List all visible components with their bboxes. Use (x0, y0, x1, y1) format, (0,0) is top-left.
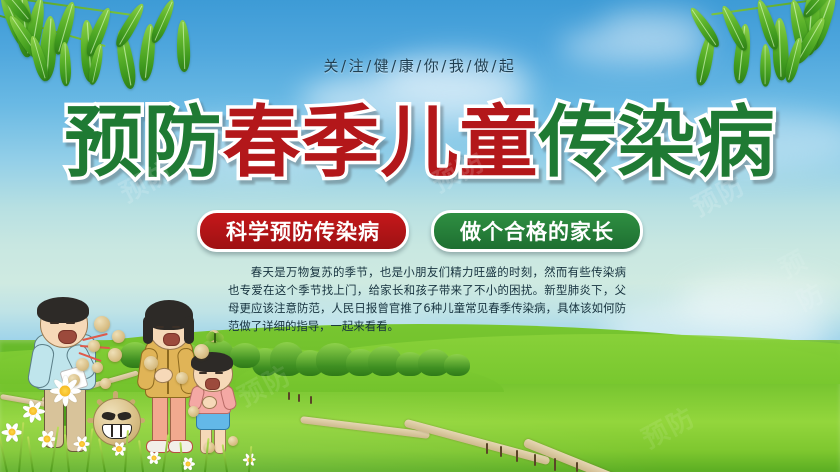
mother-mouth (163, 333, 180, 346)
virus-particle (112, 330, 125, 343)
virus-teeth-line (120, 424, 122, 437)
fence-post (534, 454, 536, 466)
daisy-core (79, 441, 85, 447)
evil-virus-character (93, 398, 139, 444)
virus-particle (94, 316, 110, 332)
daisy-core (60, 386, 71, 397)
tree (444, 354, 470, 376)
branch (0, 12, 106, 47)
virus-particle (144, 356, 158, 370)
fence-post (576, 462, 578, 472)
leaf (112, 1, 147, 50)
mother-hair-side (184, 316, 194, 344)
daisy-core (9, 429, 16, 436)
child-mouth (205, 378, 220, 390)
virus-particle (176, 372, 188, 384)
virus-particle (92, 362, 103, 373)
fence-post (554, 458, 556, 471)
child-eye (199, 372, 207, 374)
leaf (800, 0, 822, 56)
child-hand (202, 396, 217, 409)
cloud-shape (680, 275, 840, 327)
leaf (787, 0, 813, 57)
fence-post (516, 450, 518, 462)
badge-row: 科学预防传染病 做个合格的家长 (0, 210, 840, 252)
butterfly-body (214, 333, 216, 343)
leaf (24, 0, 48, 56)
child-eye (215, 372, 223, 374)
virus-teeth-line (111, 424, 113, 437)
mother-eye (156, 326, 164, 328)
body-paragraph: 春天是万物复苏的季节，也是小朋友们精力旺盛的时刻，然而有些传染病也专爱在这个季节… (228, 263, 626, 335)
fence-post (288, 392, 290, 400)
branch (711, 0, 840, 15)
fence-post (298, 394, 300, 402)
leaf (12, 0, 36, 58)
father-mouth (58, 330, 77, 344)
poster-title: 预防春季儿童传染病 (0, 101, 840, 185)
leaf (0, 0, 35, 26)
mother-leg (152, 392, 168, 446)
badge-scientific-prevention[interactable]: 科学预防传染病 (197, 210, 409, 252)
fence-post (500, 446, 502, 457)
daisy-core (186, 462, 191, 467)
poster-subtitle: 关/注/健/康/你/我/做/起 (0, 55, 840, 76)
virus-particle (88, 340, 100, 352)
leaf (0, 0, 34, 52)
leaf-cluster-left (0, 0, 240, 106)
butterfly (206, 332, 224, 346)
daisy-core (44, 436, 51, 443)
leaf (51, 0, 79, 56)
virus-particle (108, 348, 122, 362)
virus-particle (194, 344, 209, 359)
cloud-shape (600, 8, 710, 42)
virus-particle (228, 436, 238, 446)
mother-eye (172, 326, 180, 328)
leaf (800, 0, 840, 21)
daisy-core (116, 446, 122, 452)
daisy-core (152, 456, 157, 461)
fence-post (310, 396, 312, 404)
mother-leg (170, 392, 186, 446)
leaf (718, 3, 751, 53)
virus-particle (76, 358, 89, 371)
poster-canvas: 关/注/健/康/你/我/做/起 预防春季儿童传染病 科学预防传染病 做个合格的家… (0, 0, 840, 472)
leaf (805, 0, 840, 53)
badge-qualified-parent[interactable]: 做个合格的家长 (431, 210, 643, 252)
daisy-core (29, 407, 37, 415)
fence-post (486, 443, 488, 454)
leaf (753, 0, 781, 51)
mother-hair-side (143, 316, 153, 344)
leaf (83, 6, 115, 59)
father-hair (37, 297, 89, 323)
daisy-flower (48, 374, 82, 408)
leaf (148, 0, 178, 45)
virus-particle (188, 406, 199, 417)
treeline (250, 342, 480, 376)
virus-particle (100, 378, 111, 389)
title-segment-1: 预防 (64, 101, 222, 185)
branch (0, 0, 139, 17)
title-segment-2: 春季儿童 (222, 101, 538, 185)
title-segment-3: 传染病 (539, 101, 776, 185)
daisy-flower (146, 450, 162, 466)
father-eye (50, 322, 59, 324)
father-eye (66, 322, 75, 324)
